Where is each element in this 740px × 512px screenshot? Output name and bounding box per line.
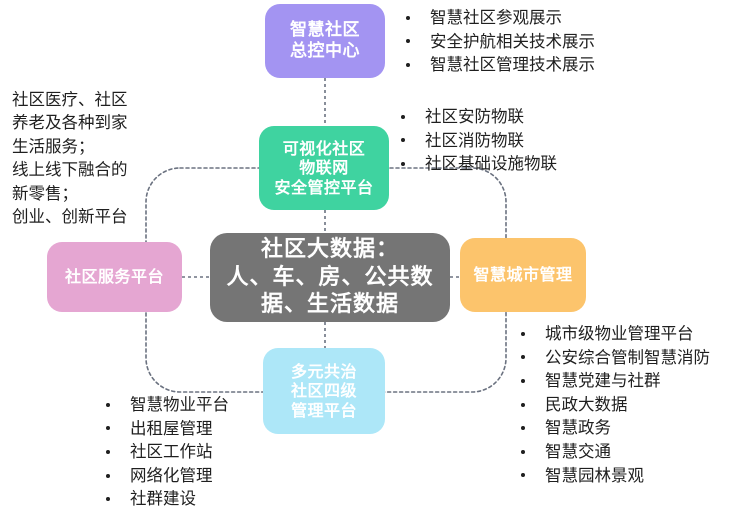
node-service-platform[interactable]: 社区服务平台 [47, 242, 182, 312]
left-services-line-1: 社区医疗、社区 [12, 88, 128, 111]
node-governance-line-2: 社区四级 [263, 381, 385, 401]
left-services-line-5: 新零售； [12, 182, 128, 205]
bullet-list-iot-platform: 社区安防物联 社区消防物联 社区基础设施物联 [399, 105, 557, 176]
bullet-list-command-center: 智慧社区参观展示 安全护航相关技术展示 智慧社区管理技术展示 [404, 6, 595, 77]
node-iot-platform-line-3: 安全管控平台 [259, 178, 389, 198]
list-item: 智慧园林景观 [519, 464, 710, 488]
list-item: 智慧物业平台 [104, 393, 229, 417]
list-item: 公安综合管制智慧消防 [519, 346, 710, 370]
list-item: 智慧社区管理技术展示 [404, 53, 595, 77]
node-service-platform-line-1: 社区服务平台 [47, 267, 182, 287]
list-item: 社区安防物联 [399, 105, 557, 129]
list-item: 社区基础设施物联 [399, 152, 557, 176]
text-block-left-services: 社区医疗、社区 养老及各种到家 生活服务； 线上线下融合的 新零售； 创业、创新… [12, 88, 128, 229]
list-item: 智慧社区参观展示 [404, 6, 595, 30]
node-command-center[interactable]: 智慧社区 总控中心 [265, 4, 385, 78]
list-item: 网络化管理 [104, 464, 229, 488]
node-command-center-line-2: 总控中心 [265, 41, 385, 62]
list-item: 智慧党建与社群 [519, 369, 710, 393]
node-governance[interactable]: 多元共治 社区四级 管理平台 [263, 348, 385, 434]
node-iot-platform-line-1: 可视化社区 [259, 139, 389, 159]
node-command-center-line-1: 智慧社区 [265, 20, 385, 41]
node-iot-platform[interactable]: 可视化社区 物联网 安全管控平台 [259, 126, 389, 210]
node-governance-line-1: 多元共治 [263, 362, 385, 382]
node-city-management[interactable]: 智慧城市管理 [460, 238, 586, 312]
list-item: 民政大数据 [519, 393, 710, 417]
node-big-data-line-3: 据、生活数据 [210, 291, 450, 319]
node-governance-line-3: 管理平台 [263, 401, 385, 421]
list-item: 智慧交通 [519, 440, 710, 464]
list-item: 社区消防物联 [399, 129, 557, 153]
list-item: 社群建设 [104, 487, 229, 511]
node-big-data-line-1: 社区大数据： [210, 236, 450, 264]
left-services-line-6: 创业、创新平台 [12, 205, 128, 228]
diagram-canvas: 智慧社区 总控中心 可视化社区 物联网 安全管控平台 社区大数据： 人、车、房、… [0, 0, 740, 512]
node-big-data-line-2: 人、车、房、公共数 [210, 264, 450, 292]
list-item: 社区工作站 [104, 440, 229, 464]
left-services-line-4: 线上线下融合的 [12, 158, 128, 181]
left-services-line-2: 养老及各种到家 [12, 111, 128, 134]
list-item: 出租屋管理 [104, 417, 229, 441]
list-item: 智慧政务 [519, 416, 710, 440]
node-big-data[interactable]: 社区大数据： 人、车、房、公共数 据、生活数据 [210, 233, 450, 322]
bullet-list-city-management: 城市级物业管理平台 公安综合管制智慧消防 智慧党建与社群 民政大数据 智慧政务 … [519, 322, 710, 487]
node-city-management-line-1: 智慧城市管理 [460, 265, 586, 285]
left-services-line-3: 生活服务； [12, 135, 128, 158]
node-iot-platform-line-2: 物联网 [259, 158, 389, 178]
list-item: 安全护航相关技术展示 [404, 30, 595, 54]
list-item: 城市级物业管理平台 [519, 322, 710, 346]
bullet-list-governance: 智慧物业平台 出租屋管理 社区工作站 网络化管理 社群建设 [104, 393, 229, 511]
